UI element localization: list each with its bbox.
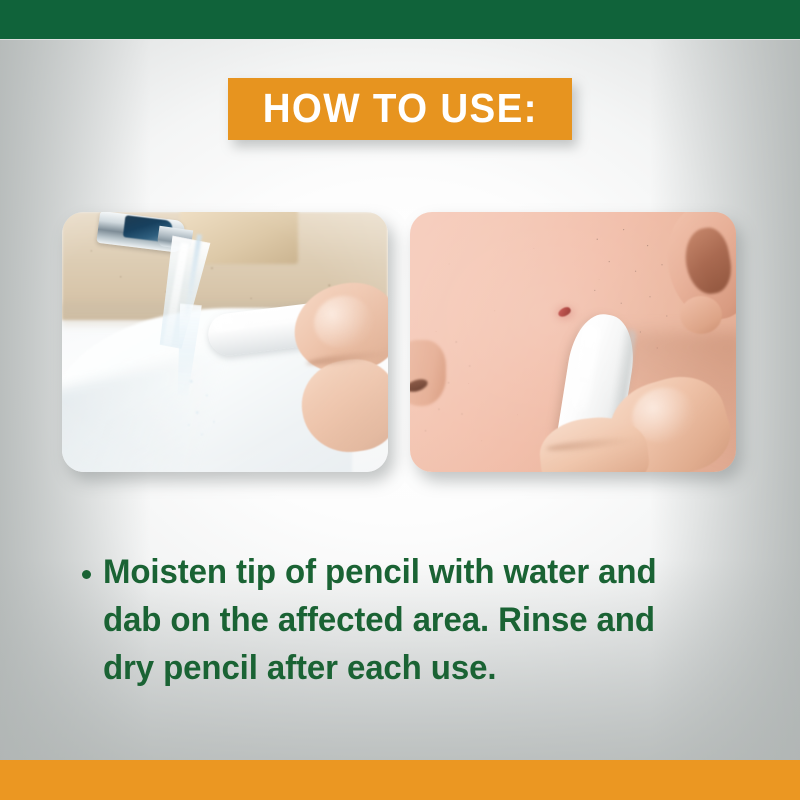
- photo-right-inner: [410, 212, 736, 472]
- photo-row: [62, 212, 740, 472]
- page-title: HOW TO USE:: [263, 87, 538, 129]
- title-banner: HOW TO USE:: [228, 78, 573, 140]
- bullet-point-icon: [82, 570, 91, 579]
- how-to-use-panel: HOW TO USE:: [0, 0, 800, 800]
- photo-applying-pencil-to-shaving-nick: [410, 212, 736, 472]
- page-title-area: HOW TO USE:: [0, 78, 800, 140]
- photo-right-soft-light: [410, 212, 736, 472]
- instructions-text: Moisten tip of pencil with water and dab…: [103, 548, 703, 692]
- top-green-band: [0, 0, 800, 39]
- photo-left-inner: [62, 212, 388, 472]
- photo-rinsing-pencil-under-faucet: [62, 212, 388, 472]
- instructions-block: Moisten tip of pencil with water and dab…: [82, 548, 722, 692]
- photo-left-soft-light: [62, 212, 388, 472]
- bottom-orange-band: [0, 760, 800, 800]
